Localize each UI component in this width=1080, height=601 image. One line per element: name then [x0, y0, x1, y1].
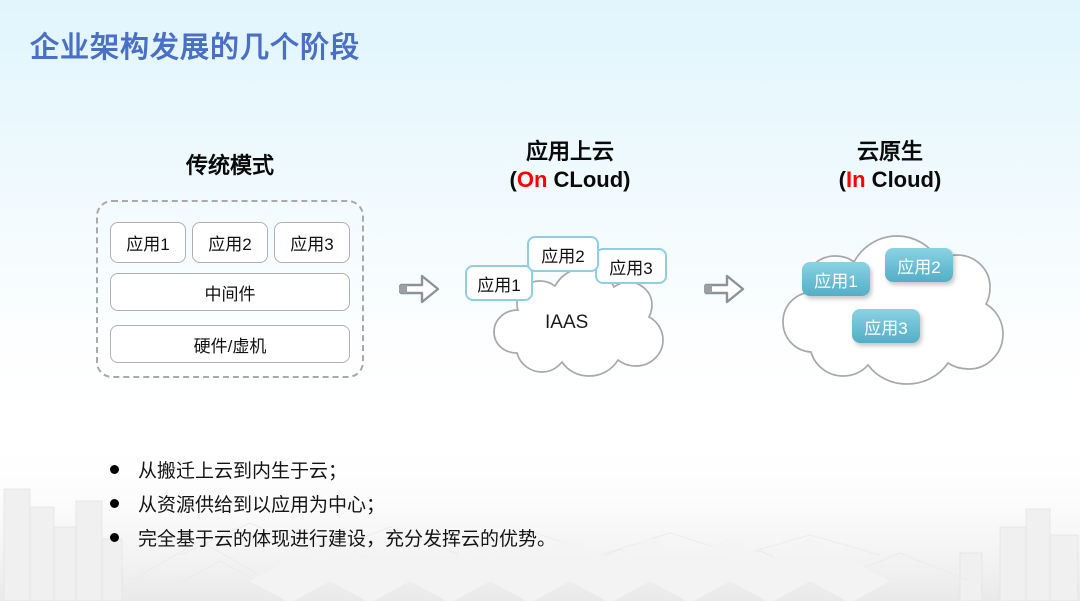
stage-title-on-cloud-cn: 应用上云 [440, 138, 700, 166]
stage-title-cloud-native-cn: 云原生 [760, 138, 1020, 166]
list-item: 从搬迁上云到内生于云； [110, 452, 810, 486]
list-item: 完全基于云的体现进行建设，充分发挥云的优势。 [110, 520, 810, 554]
traditional-app-3[interactable]: 应用3 [274, 222, 350, 263]
traditional-app-2[interactable]: 应用2 [192, 222, 268, 263]
stage-title-cloud-native: 云原生 (In Cloud) [760, 138, 1020, 194]
bullet-dot-icon [110, 499, 119, 508]
arrow-right-icon-1 [396, 270, 442, 308]
bullet-text-2: 从资源供给到以应用为中心； [138, 490, 385, 517]
traditional-app-row: 应用1 应用2 应用3 [110, 222, 350, 263]
on-cloud-highlight: On [517, 167, 548, 192]
summary-bullet-list: 从搬迁上云到内生于云； 从资源供给到以应用为中心； 完全基于云的体现进行建设，充… [110, 452, 810, 554]
list-item: 从资源供给到以应用为中心； [110, 486, 810, 520]
bullet-text-1: 从搬迁上云到内生于云； [138, 456, 347, 483]
stage-title-traditional-cn: 传统模式 [95, 152, 365, 180]
cloud-native-app-2[interactable]: 应用2 [885, 248, 953, 282]
on-cloud-rest: CLoud) [547, 167, 630, 192]
iaas-label: IAAS [545, 312, 588, 334]
bullet-text-3: 完全基于云的体现进行建设，充分发挥云的优势。 [138, 524, 556, 551]
on-cloud-app-2[interactable]: 应用2 [527, 236, 599, 272]
on-cloud-paren-open: ( [510, 167, 517, 192]
bullet-dot-icon [110, 533, 119, 542]
on-cloud-app-1[interactable]: 应用1 [465, 265, 533, 301]
traditional-middleware-layer[interactable]: 中间件 [110, 273, 350, 311]
stage-title-traditional: 传统模式 [95, 152, 365, 180]
stage-title-on-cloud-en: (On CLoud) [440, 166, 700, 194]
stage-title-cloud-native-en: (In Cloud) [760, 166, 1020, 194]
on-cloud-app-3[interactable]: 应用3 [595, 248, 667, 284]
traditional-app-1[interactable]: 应用1 [110, 222, 186, 263]
cloud-native-rest: Cloud) [866, 167, 942, 192]
cloud-native-paren-open: ( [839, 167, 846, 192]
traditional-hardware-layer[interactable]: 硬件/虚机 [110, 325, 350, 363]
page-title: 企业架构发展的几个阶段 [30, 24, 360, 66]
slide-canvas: 企业架构发展的几个阶段 传统模式 应用1 应用2 应用3 中间件 硬件/虚机 应… [0, 0, 1080, 601]
cloud-native-highlight: In [846, 167, 866, 192]
stage-title-on-cloud: 应用上云 (On CLoud) [440, 138, 700, 194]
arrow-right-icon-2 [701, 270, 747, 308]
cloud-native-app-1[interactable]: 应用1 [802, 262, 870, 296]
cloud-native-app-3[interactable]: 应用3 [852, 309, 920, 343]
bullet-dot-icon [110, 465, 119, 474]
